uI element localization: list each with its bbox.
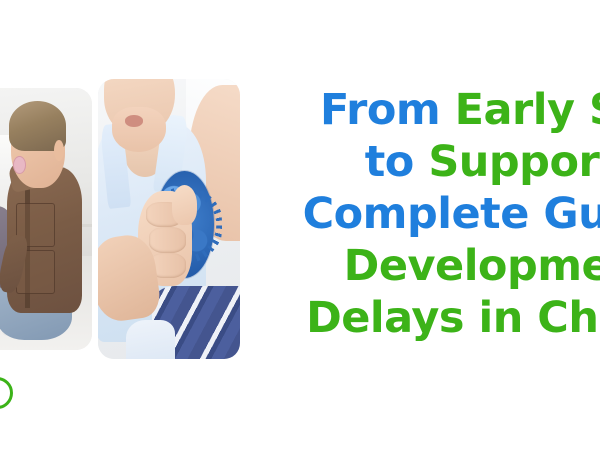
headline-line-2: to Support: [292, 136, 600, 188]
headline-line-1-blue: From: [320, 85, 455, 135]
headline: From Early Sig to Support Complete Guide…: [292, 84, 600, 344]
headline-line-4: Developmen: [292, 240, 600, 292]
headline-line-1-green: Early Sig: [455, 85, 600, 135]
child-chin: [112, 107, 166, 152]
toddler-scene: [0, 88, 92, 350]
photo-card-toddler-playing: [0, 88, 92, 350]
headline-line-2-blue: to: [365, 137, 429, 187]
poster-canvas: From Early Sig to Support Complete Guide…: [0, 0, 600, 450]
headline-line-5-green: Delays in Childr: [306, 293, 600, 343]
headline-line-1: From Early Sig: [292, 84, 600, 136]
pacifier: [13, 156, 26, 174]
photo-card-sensory-ball: [98, 79, 240, 359]
headline-line-4-green: Developmen: [344, 241, 600, 291]
headline-line-2-green: Support: [428, 137, 600, 187]
child-thumb: [172, 185, 198, 224]
child-lips: [125, 115, 143, 126]
child-finger-2: [149, 227, 186, 252]
child-knee: [126, 320, 174, 359]
green-ring-logo-icon: [0, 377, 13, 409]
headline-line-3: Complete Guide: [292, 188, 600, 240]
sensory-ball-scene: [98, 79, 240, 359]
headline-line-5: Delays in Childr: [292, 292, 600, 344]
headline-line-3-blue: Complete Guide: [303, 189, 600, 239]
